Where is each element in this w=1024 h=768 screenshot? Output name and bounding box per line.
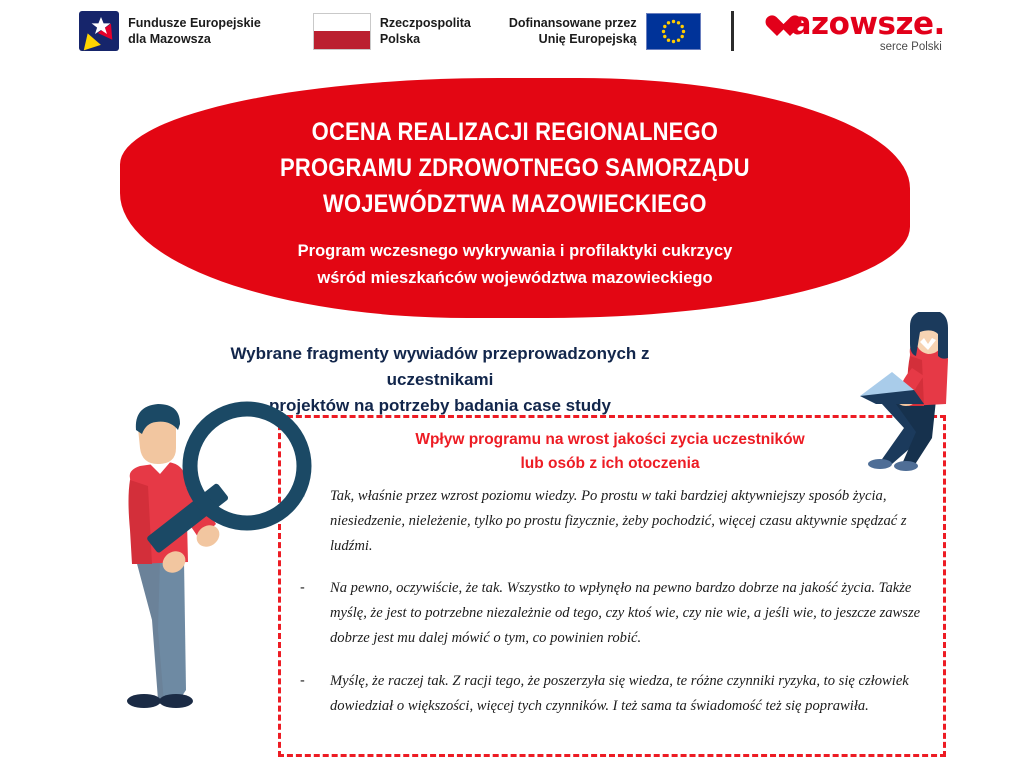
quote-text: Tak, właśnie przez wzrost poziomu wiedzy…	[330, 484, 948, 559]
box-heading-line2: lub osób z ich otoczenia	[300, 452, 920, 476]
fundusze-europejskie-label: Fundusze Europejskie dla Mazowsza	[128, 15, 261, 47]
quote-item: - Na pewno, oczywiście, że tak. Wszystko…	[300, 576, 948, 651]
fundusze-line2: dla Mazowsza	[128, 32, 211, 46]
section-heading-line1: Wybrane fragmenty wywiadów przeprowadzon…	[190, 341, 690, 393]
logo-divider	[731, 11, 734, 51]
mazowsze-logo-unit: azowsze. serce Polski	[764, 9, 945, 53]
mazowsze-tagline: serce Polski	[880, 41, 942, 53]
quote-item: - Myślę, że raczej tak. Z racji tego, że…	[300, 669, 948, 719]
flag-red-band	[314, 31, 370, 49]
banner-title-line3: WOJEWÓDZTWA MAZOWIECKIEGO	[280, 186, 750, 222]
man-right-shoe	[159, 694, 193, 708]
infographic-page: Fundusze Europejskie dla Mazowsza Rzeczp…	[0, 0, 1024, 768]
woman-front-shoe	[868, 459, 892, 469]
quotes-box-heading: Wpływ programu na wrost jakości zycia uc…	[300, 428, 920, 476]
magnifier-lens	[190, 409, 304, 523]
rzeczpospolita-polska-logo-unit: Rzeczpospolita Polska	[313, 13, 471, 50]
woman-with-laptop-illustration	[852, 312, 1002, 477]
flag-white-band	[314, 14, 370, 32]
mazowsze-wordmark-wrap: azowsze.	[764, 9, 945, 40]
banner-content: OCENA REALIZACJI REGIONALNEGO PROGRAMU Z…	[160, 96, 870, 311]
banner-title: OCENA REALIZACJI REGIONALNEGO PROGRAMU Z…	[280, 114, 750, 222]
fundusze-europejskie-logo-unit: Fundusze Europejskie dla Mazowsza	[79, 11, 261, 51]
quote-text: Myślę, że raczej tak. Z racji tego, że p…	[330, 669, 948, 719]
rzeczpospolita-label: Rzeczpospolita Polska	[380, 15, 471, 47]
eu-funds-logo-icon	[79, 11, 119, 51]
quote-text: Na pewno, oczywiście, że tak. Wszystko t…	[330, 576, 948, 651]
fe-white-star-icon	[79, 11, 119, 51]
fundusze-line1: Fundusze Europejskie	[128, 16, 261, 30]
man-left-shoe	[127, 694, 161, 708]
quotes-list: - Tak, właśnie przez wzrost poziomu wied…	[300, 484, 948, 736]
woman-back-shoe	[894, 461, 918, 471]
eu-funding-label: Dofinansowane przez Unię Europejską	[509, 15, 637, 47]
logo-bar: Fundusze Europejskie dla Mazowsza Rzeczp…	[0, 0, 1024, 62]
european-union-logo-unit: Dofinansowane przez Unię Europejską	[509, 13, 701, 50]
mazowsze-heart-icon	[764, 12, 790, 38]
banner-subtitle-line1: Program wczesnego wykrywania i profilakt…	[298, 238, 733, 265]
man-with-magnifying-glass-illustration	[100, 390, 320, 762]
banner-title-line2: PROGRAMU ZDROWOTNEGO SAMORZĄDU	[280, 150, 750, 186]
poland-line2: Polska	[380, 32, 420, 46]
banner-subtitle: Program wczesnego wykrywania i profilakt…	[298, 238, 733, 291]
eu-line2: Unię Europejską	[539, 32, 637, 46]
european-union-flag-icon	[646, 13, 701, 50]
box-heading-line1: Wpływ programu na wrost jakości zycia uc…	[300, 428, 920, 452]
mazowsze-wordmark: azowsze.	[791, 9, 945, 40]
quote-item: - Tak, właśnie przez wzrost poziomu wied…	[300, 484, 948, 559]
poland-line1: Rzeczpospolita	[380, 16, 471, 30]
banner-subtitle-line2: wśród mieszkańców województwa mazowiecki…	[298, 265, 733, 292]
polish-flag-icon	[313, 13, 371, 50]
banner-title-line1: OCENA REALIZACJI REGIONALNEGO	[280, 114, 750, 150]
eu-line1: Dofinansowane przez	[509, 16, 637, 30]
eu-stars-icon	[647, 14, 700, 49]
